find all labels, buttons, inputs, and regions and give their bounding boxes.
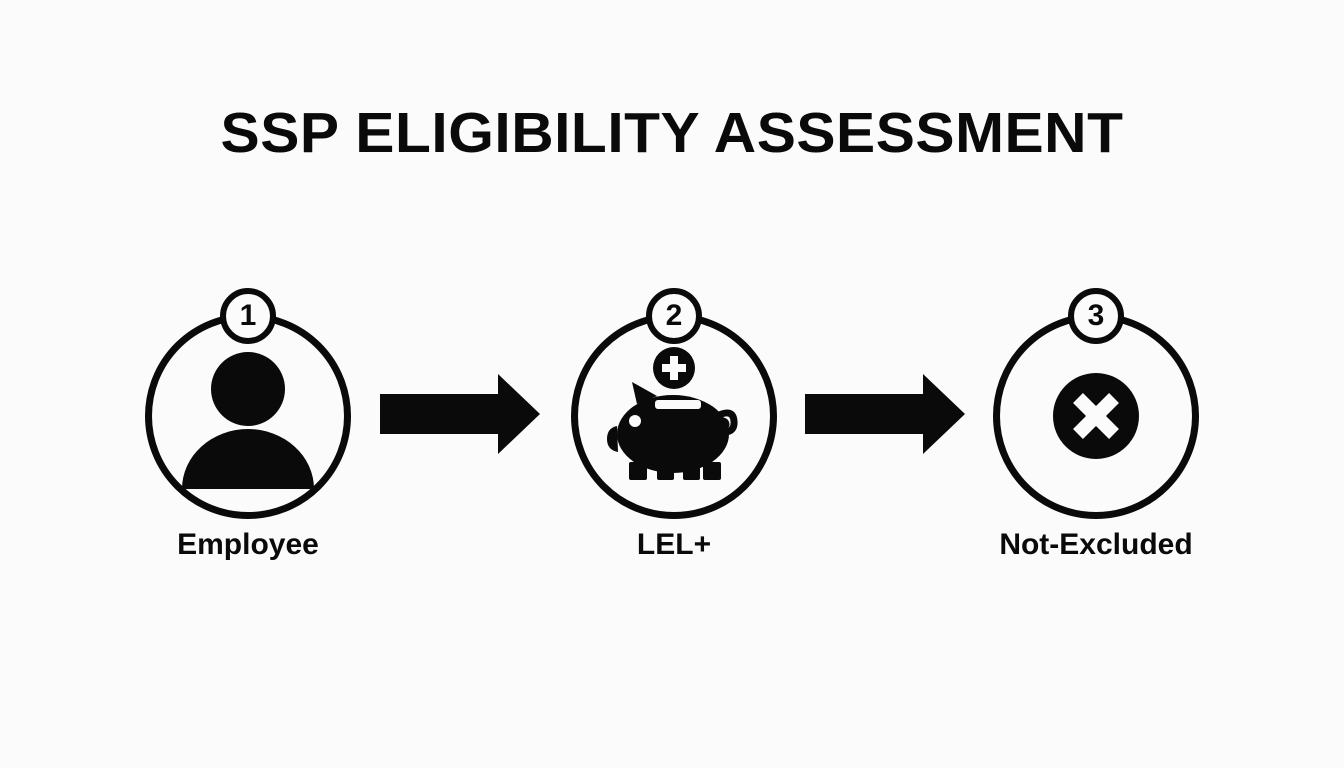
arrow-right-icon [380, 372, 540, 456]
step-number-badge: 2 [646, 288, 702, 344]
page-title: SSP ELIGIBILITY ASSESSMENT [0, 104, 1344, 164]
step-number-badge: 3 [1068, 288, 1124, 344]
x-circle-icon [1021, 344, 1171, 489]
piggy-bank-icon [599, 344, 749, 489]
person-icon [173, 344, 323, 489]
step-label-employee: Employee [98, 528, 398, 562]
flow-step-not-excluded[interactable]: 3 Not-Excluded [946, 286, 1246, 586]
arrow-right-icon [805, 372, 965, 456]
slide-canvas: SSP ELIGIBILITY ASSESSMENT 1 Employee [0, 0, 1344, 768]
flow-step-lel[interactable]: 2 LEL+ [524, 286, 824, 586]
flow-step-employee[interactable]: 1 Employee [98, 286, 398, 586]
step-label-lel: LEL+ [524, 528, 824, 562]
step-label-not-excluded: Not-Excluded [946, 528, 1246, 562]
process-flow: 1 Employee [0, 286, 1344, 586]
step-number-badge: 1 [220, 288, 276, 344]
